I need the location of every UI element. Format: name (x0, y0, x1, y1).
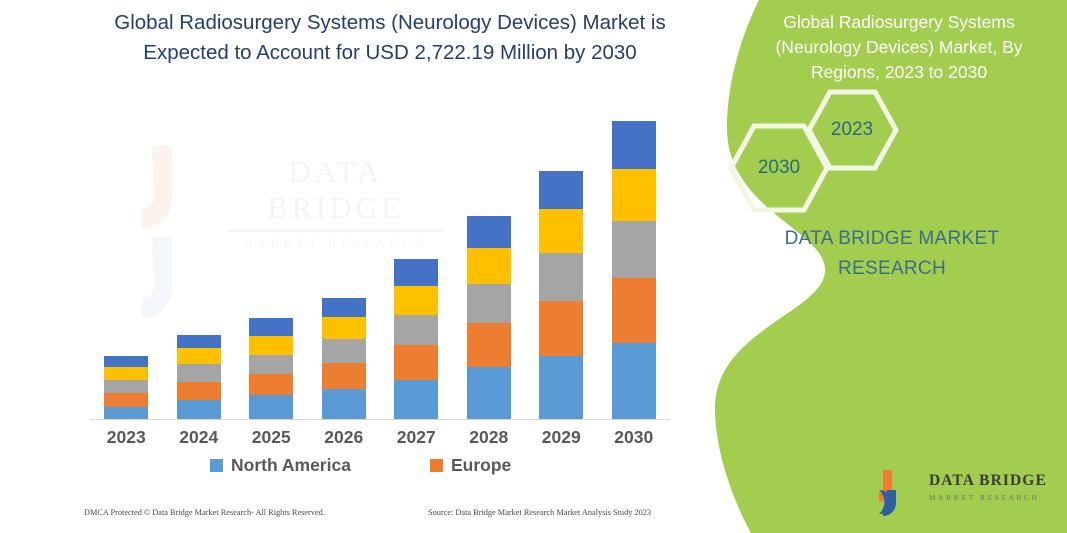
bar-segment-2030-asia-pacific (612, 221, 656, 279)
bar-segment-2029-asia-pacific (539, 253, 583, 301)
bar-segment-2030-south-america (612, 169, 656, 221)
right-panel-brand-line-1: DATA BRIDGE MARKET (737, 224, 1047, 254)
bar-segment-2029-europe (539, 301, 583, 356)
bar-segment-2027-north-america (394, 380, 438, 420)
bar-segment-2029-north-america (539, 356, 583, 420)
bar-2027 (394, 259, 438, 420)
bar-2025 (249, 318, 293, 420)
bar-segment-2028-south-america (467, 248, 511, 284)
bar-segment-2028-europe (467, 323, 511, 367)
legend-item-north-america[interactable]: North America (210, 455, 351, 476)
bar-segment-2025-asia-pacific (249, 355, 293, 374)
chart-legend: North AmericaEurope (90, 455, 670, 483)
bar-segment-2025-middle-east-and-africa (249, 318, 293, 335)
bar-segment-2027-europe (394, 345, 438, 380)
page-title: Global Radiosurgery Systems (Neurology D… (80, 8, 700, 68)
hexagon-2023: 2023 (805, 88, 899, 172)
bar-2030 (612, 121, 656, 420)
bar-segment-2023-north-america (104, 407, 148, 420)
data-bridge-logo-icon (875, 468, 923, 516)
hexagon-group: 2030 2023 (707, 100, 1067, 205)
x-axis-tick-labels: 20232024202520262027202820292030 (90, 427, 670, 453)
bar-segment-2025-europe (249, 374, 293, 395)
bar-segment-2024-south-america (177, 348, 221, 364)
logo-title: DATA BRIDGE (929, 472, 1055, 490)
bar-2028 (467, 216, 511, 420)
bar-segment-2028-asia-pacific (467, 284, 511, 323)
bar-segment-2029-south-america (539, 209, 583, 253)
legend-label: Europe (451, 455, 511, 476)
bar-segment-2030-north-america (612, 343, 656, 420)
bar-segment-2029-middle-east-and-africa (539, 171, 583, 209)
footer-source-text: Source: Data Bridge Market Research Mark… (428, 508, 651, 517)
x-axis-line (90, 419, 670, 420)
bar-segment-2030-europe (612, 278, 656, 343)
bar-segment-2026-middle-east-and-africa (322, 298, 366, 317)
legend-label: North America (231, 455, 351, 476)
bar-segment-2027-south-america (394, 286, 438, 315)
bar-segment-2027-middle-east-and-africa (394, 259, 438, 286)
bar-2023 (104, 356, 148, 420)
bar-segment-2028-north-america (467, 367, 511, 420)
legend-item-europe[interactable]: Europe (430, 455, 511, 476)
x-tick-2025: 2025 (235, 427, 307, 448)
bar-segment-2024-middle-east-and-africa (177, 335, 221, 348)
x-tick-2027: 2027 (380, 427, 452, 448)
bar-segment-2023-europe (104, 393, 148, 406)
bar-segment-2023-middle-east-and-africa (104, 356, 148, 368)
hexagon-2023-label: 2023 (805, 119, 899, 141)
bar-segment-2024-north-america (177, 400, 221, 420)
bar-segment-2027-asia-pacific (394, 315, 438, 346)
bar-segment-2028-middle-east-and-africa (467, 216, 511, 248)
bar-segment-2026-north-america (322, 389, 366, 420)
bar-segment-2023-south-america (104, 367, 148, 379)
infographic-page: Global Radiosurgery Systems (Neurology D… (0, 0, 1067, 533)
footer-dmca-text: DMCA Protected © Data Bridge Market Rese… (84, 508, 325, 517)
bar-2026 (322, 298, 366, 420)
brand-logo: DATA BRIDGE MARKET RESEARCH (875, 468, 1055, 520)
logo-subtitle: MARKET RESEARCH (929, 492, 1055, 504)
bar-segment-2025-south-america (249, 336, 293, 355)
bar-2024 (177, 335, 221, 420)
bar-chart-plot (90, 120, 670, 420)
right-panel-brand-line-2: RESEARCH (737, 254, 1047, 284)
bar-segment-2024-asia-pacific (177, 364, 221, 381)
right-panel-brand: DATA BRIDGE MARKET RESEARCH (737, 224, 1047, 284)
bar-segment-2024-europe (177, 382, 221, 400)
bar-segment-2030-middle-east-and-africa (612, 121, 656, 169)
x-tick-2024: 2024 (163, 427, 235, 448)
x-tick-2030: 2030 (598, 427, 670, 448)
right-green-panel: Global Radiosurgery Systems (Neurology D… (707, 0, 1067, 533)
bar-segment-2023-asia-pacific (104, 380, 148, 393)
bar-segment-2026-europe (322, 363, 366, 389)
x-tick-2023: 2023 (90, 427, 162, 448)
right-panel-title: Global Radiosurgery Systems (Neurology D… (749, 10, 1049, 85)
x-tick-2026: 2026 (308, 427, 380, 448)
bar-2029 (539, 171, 583, 420)
legend-swatch-icon (430, 459, 443, 472)
bar-segment-2026-asia-pacific (322, 339, 366, 363)
bar-segment-2026-south-america (322, 317, 366, 339)
bar-segment-2025-north-america (249, 395, 293, 420)
footer: DMCA Protected © Data Bridge Market Rese… (84, 508, 684, 526)
x-tick-2028: 2028 (453, 427, 525, 448)
legend-swatch-icon (210, 459, 223, 472)
x-tick-2029: 2029 (525, 427, 597, 448)
